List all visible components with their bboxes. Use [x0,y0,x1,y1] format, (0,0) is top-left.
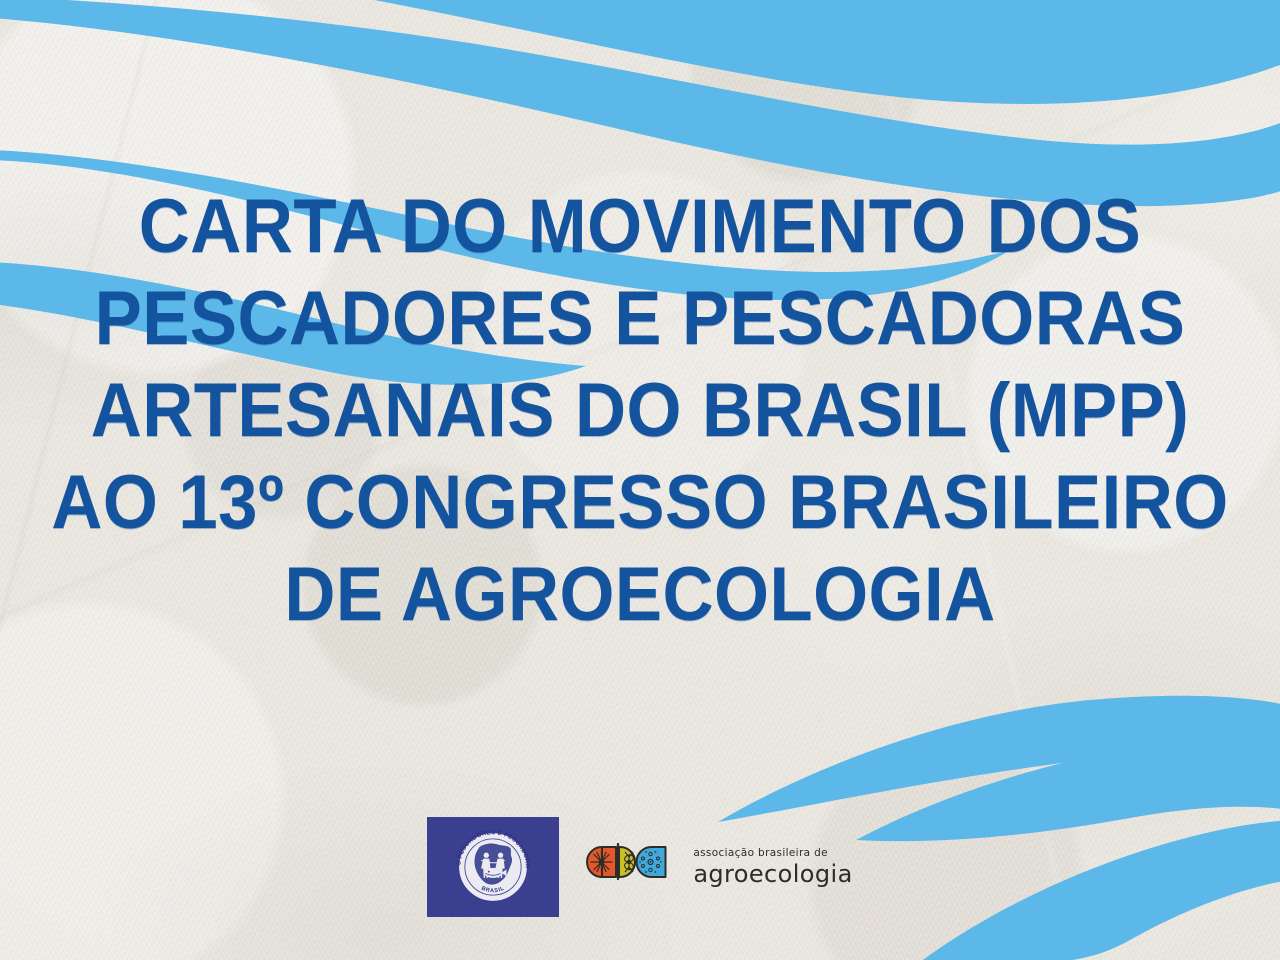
seed-burst-icon [591,852,612,873]
poster-title: CARTA DO MOVIMENTO DOS PESCADORES E PESC… [0,181,1280,641]
title-line-1: CARTA DO MOVIMENTO DOS [45,181,1235,273]
aba-tagline: associação brasileira de [693,848,852,859]
title-line-3: ARTESANAIS DO BRASIL (MPP) [45,365,1235,457]
mpp-seal-icon: MOVIMENTO DOS PESCADORES E PESCADORAS AR… [451,825,535,909]
title-line-2: PESCADORES E PESCADORAS [45,273,1235,365]
logo-row: MOVIMENTO DOS PESCADORES E PESCADORAS AR… [0,812,1280,922]
aba-letter-b-icon [618,844,635,879]
title-line-5: DE AGROECOLOGIA [45,549,1235,641]
aba-logo: associação brasileira de agroecologia [585,842,852,892]
aba-letter-a1-icon [587,847,616,877]
aba-letter-marks [585,842,684,892]
aba-wordmark: agroecologia [693,862,852,886]
aba-wordmark-block: associação brasileira de agroecologia [693,848,852,886]
poster-canvas: CARTA DO MOVIMENTO DOS PESCADORES E PESC… [0,0,1280,960]
mpp-logo: MOVIMENTO DOS PESCADORES E PESCADORAS AR… [427,817,559,917]
title-line-4: AO 13º CONGRESSO BRASILEIRO [45,457,1235,549]
aba-letter-a2-icon [637,847,666,877]
